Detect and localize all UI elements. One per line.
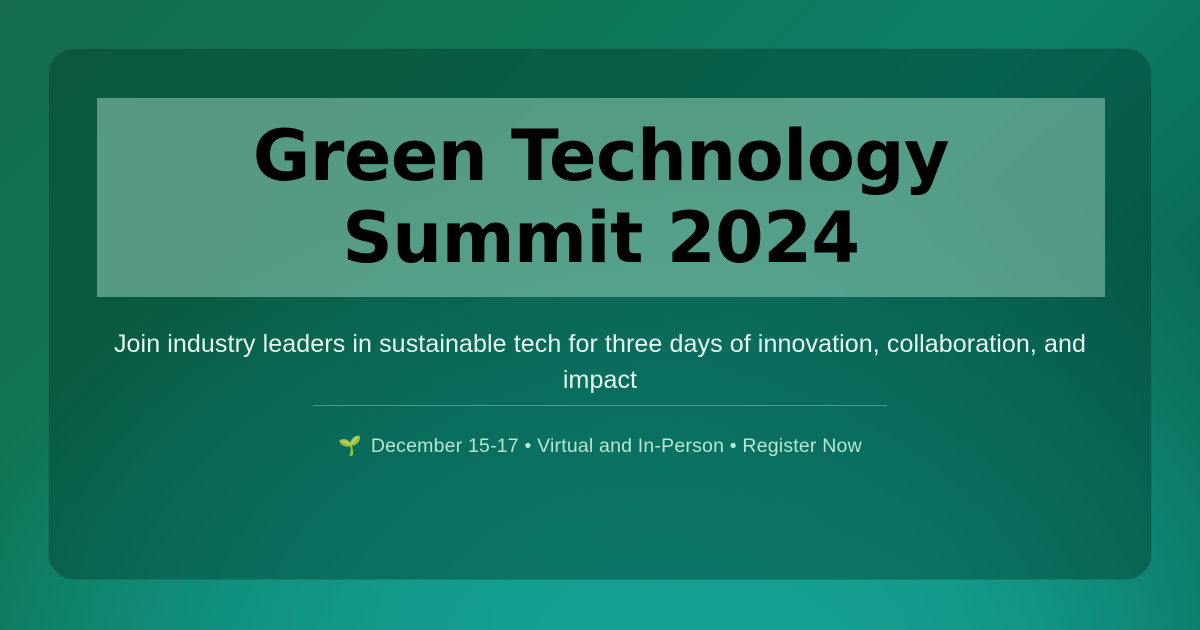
event-meta-text[interactable]: December 15-17 • Virtual and In-Person •…	[371, 437, 862, 457]
page-title: Green Technology Summit 2024	[111, 116, 1091, 278]
event-subtitle: Join industry leaders in sustainable tec…	[90, 327, 1110, 398]
seedling-icon: 🌱	[338, 437, 362, 456]
event-meta: 🌱 December 15-17 • Virtual and In-Person…	[338, 437, 862, 457]
poster-canvas: Green Technology Summit 2024 Join indust…	[0, 0, 1200, 630]
section-divider	[313, 405, 887, 406]
title-banner: Green Technology Summit 2024	[97, 98, 1105, 297]
event-card: Green Technology Summit 2024 Join indust…	[48, 48, 1152, 580]
